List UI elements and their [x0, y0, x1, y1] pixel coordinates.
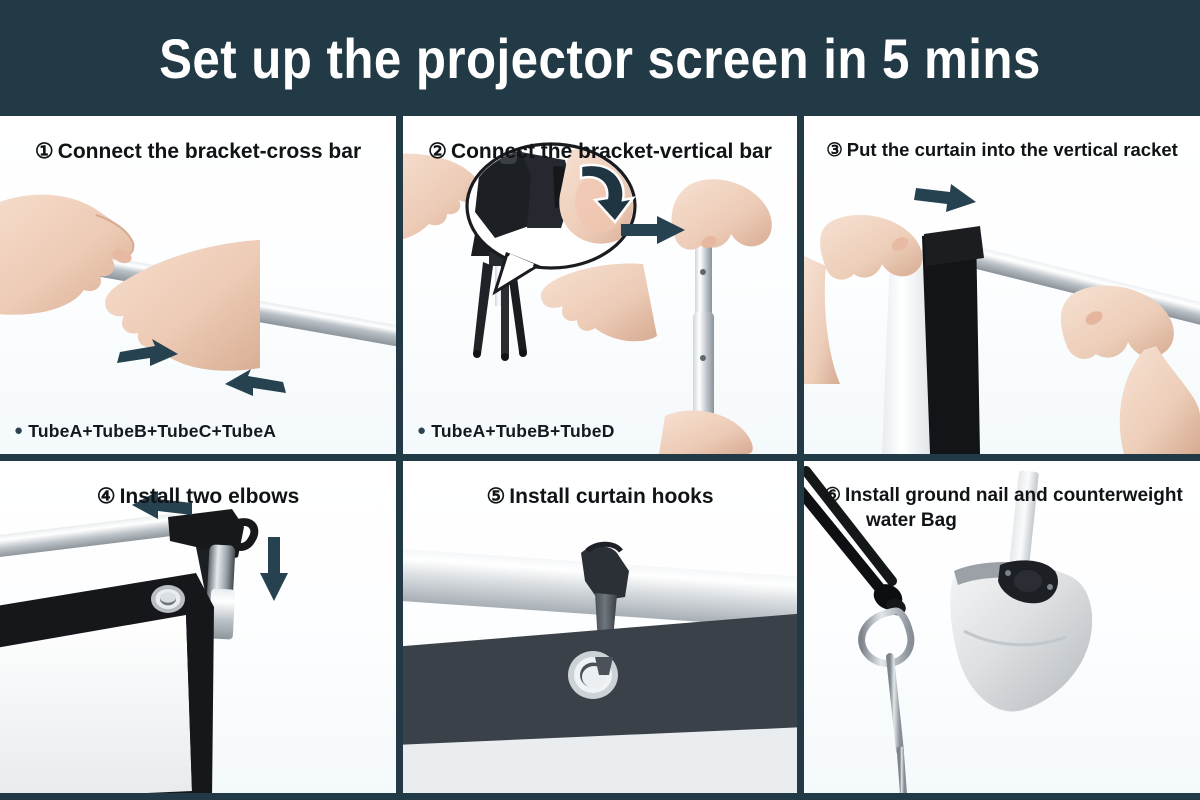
step-panel-5: ⑤Install curtain hooks — [403, 461, 797, 800]
step-3-title: ③Put the curtain into the vertical racke… — [804, 138, 1200, 163]
step-4-title: ④Install two elbows — [0, 483, 396, 511]
step-1-arrows — [0, 116, 396, 454]
page-title: Set up the projector screen in 5 mins — [159, 26, 1041, 91]
step-1-title: ①Connect the bracket-cross bar — [0, 138, 396, 166]
step-2-title: ②Connect the bracket-vertical bar — [403, 138, 797, 166]
step-3-arrows — [804, 116, 1200, 454]
step-2-number: ② — [428, 140, 447, 163]
step-5-number: ⑤ — [486, 485, 505, 508]
poster-bottom-edge — [0, 793, 1200, 800]
step-panel-2: ②Connect the bracket-vertical bar ●TubeA… — [403, 116, 797, 454]
step-6-title: ⑥Install ground nail and counterweight w… — [804, 483, 1200, 534]
step-1-title-text: Connect the bracket-cross bar — [58, 140, 361, 163]
poster-header: Set up the projector screen in 5 mins — [0, 0, 1200, 116]
step-5-title-text: Install curtain hooks — [509, 485, 713, 508]
step-2-arrows — [403, 116, 797, 454]
grid-divider-horizontal — [0, 454, 1200, 461]
infographic-poster: Set up the projector screen in 5 mins — [0, 0, 1200, 800]
step-1-number: ① — [35, 140, 54, 163]
step-panel-6: ⑥Install ground nail and counterweight w… — [804, 461, 1200, 800]
step-panel-1: ①Connect the bracket-cross bar ●TubeA+Tu… — [0, 116, 396, 454]
step-1-caption: ●TubeA+TubeB+TubeC+TubeA — [14, 421, 276, 442]
step-4-arrows — [0, 461, 396, 800]
step-6-title-line1: Install ground nail and counterweight — [845, 485, 1183, 506]
step-3-number: ③ — [826, 139, 843, 160]
step-panel-4: ④Install two elbows — [0, 461, 396, 800]
step-5-title: ⑤Install curtain hooks — [403, 483, 797, 511]
step-6-number: ⑥ — [824, 485, 841, 506]
step-4-title-text: Install two elbows — [120, 485, 300, 508]
step-2-title-text: Connect the bracket-vertical bar — [451, 140, 772, 163]
step-panel-3: ③Put the curtain into the vertical racke… — [804, 116, 1200, 454]
bullet-icon: ● — [14, 422, 23, 439]
step-1-caption-text: TubeA+TubeB+TubeC+TubeA — [28, 421, 276, 441]
bullet-icon: ● — [417, 422, 426, 439]
step-2-caption: ●TubeA+TubeB+TubeD — [417, 421, 615, 442]
step-3-title-text: Put the curtain into the vertical racket — [847, 139, 1178, 160]
step-5-illustration — [403, 461, 797, 800]
step-4-number: ④ — [97, 485, 116, 508]
step-2-caption-text: TubeA+TubeB+TubeD — [431, 421, 614, 441]
step-6-title-line2: water Bag — [824, 508, 1190, 533]
